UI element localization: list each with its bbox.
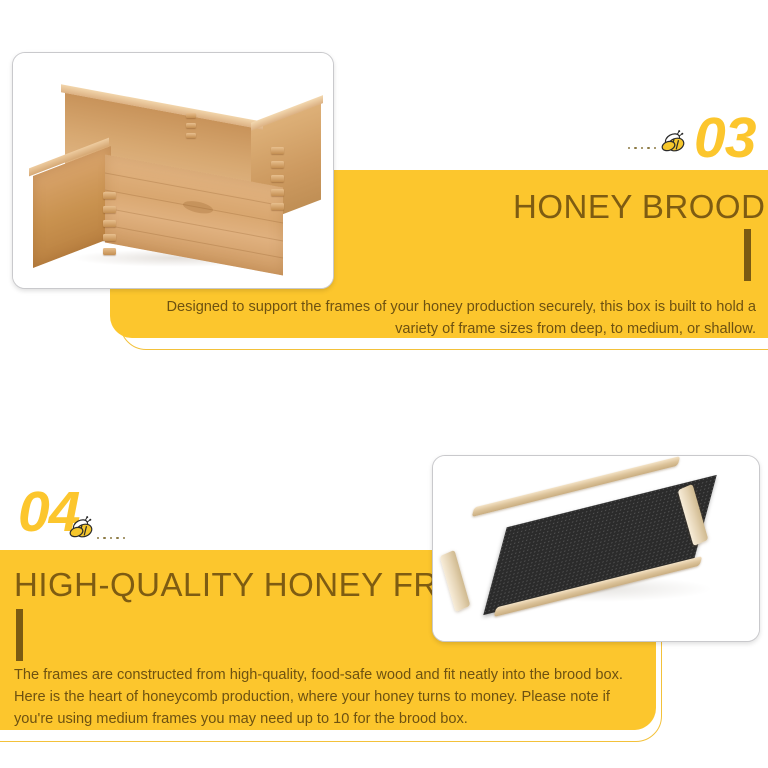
section-03-body: Designed to support the frames of your h…	[124, 296, 756, 340]
honey-frame-photo	[433, 456, 759, 641]
section-03-accent-bar	[744, 229, 751, 281]
bee-icon	[656, 127, 690, 157]
section-03-title: HONEY BROOD	[513, 188, 765, 226]
brood-box-image-card	[12, 52, 334, 289]
infographic-canvas: 03 HONEY BROOD	[0, 0, 768, 768]
brood-box-photo	[13, 53, 333, 288]
section-03-number: 03	[694, 110, 755, 167]
dotted-trail	[628, 147, 656, 149]
dotted-trail	[97, 537, 125, 539]
honey-frame-image-card	[432, 455, 760, 642]
section-04-body: The frames are constructed from high-qua…	[14, 664, 650, 730]
section-04-accent-bar	[16, 609, 23, 661]
section-03-panel-top-strip	[330, 170, 768, 190]
bee-icon	[64, 513, 98, 543]
